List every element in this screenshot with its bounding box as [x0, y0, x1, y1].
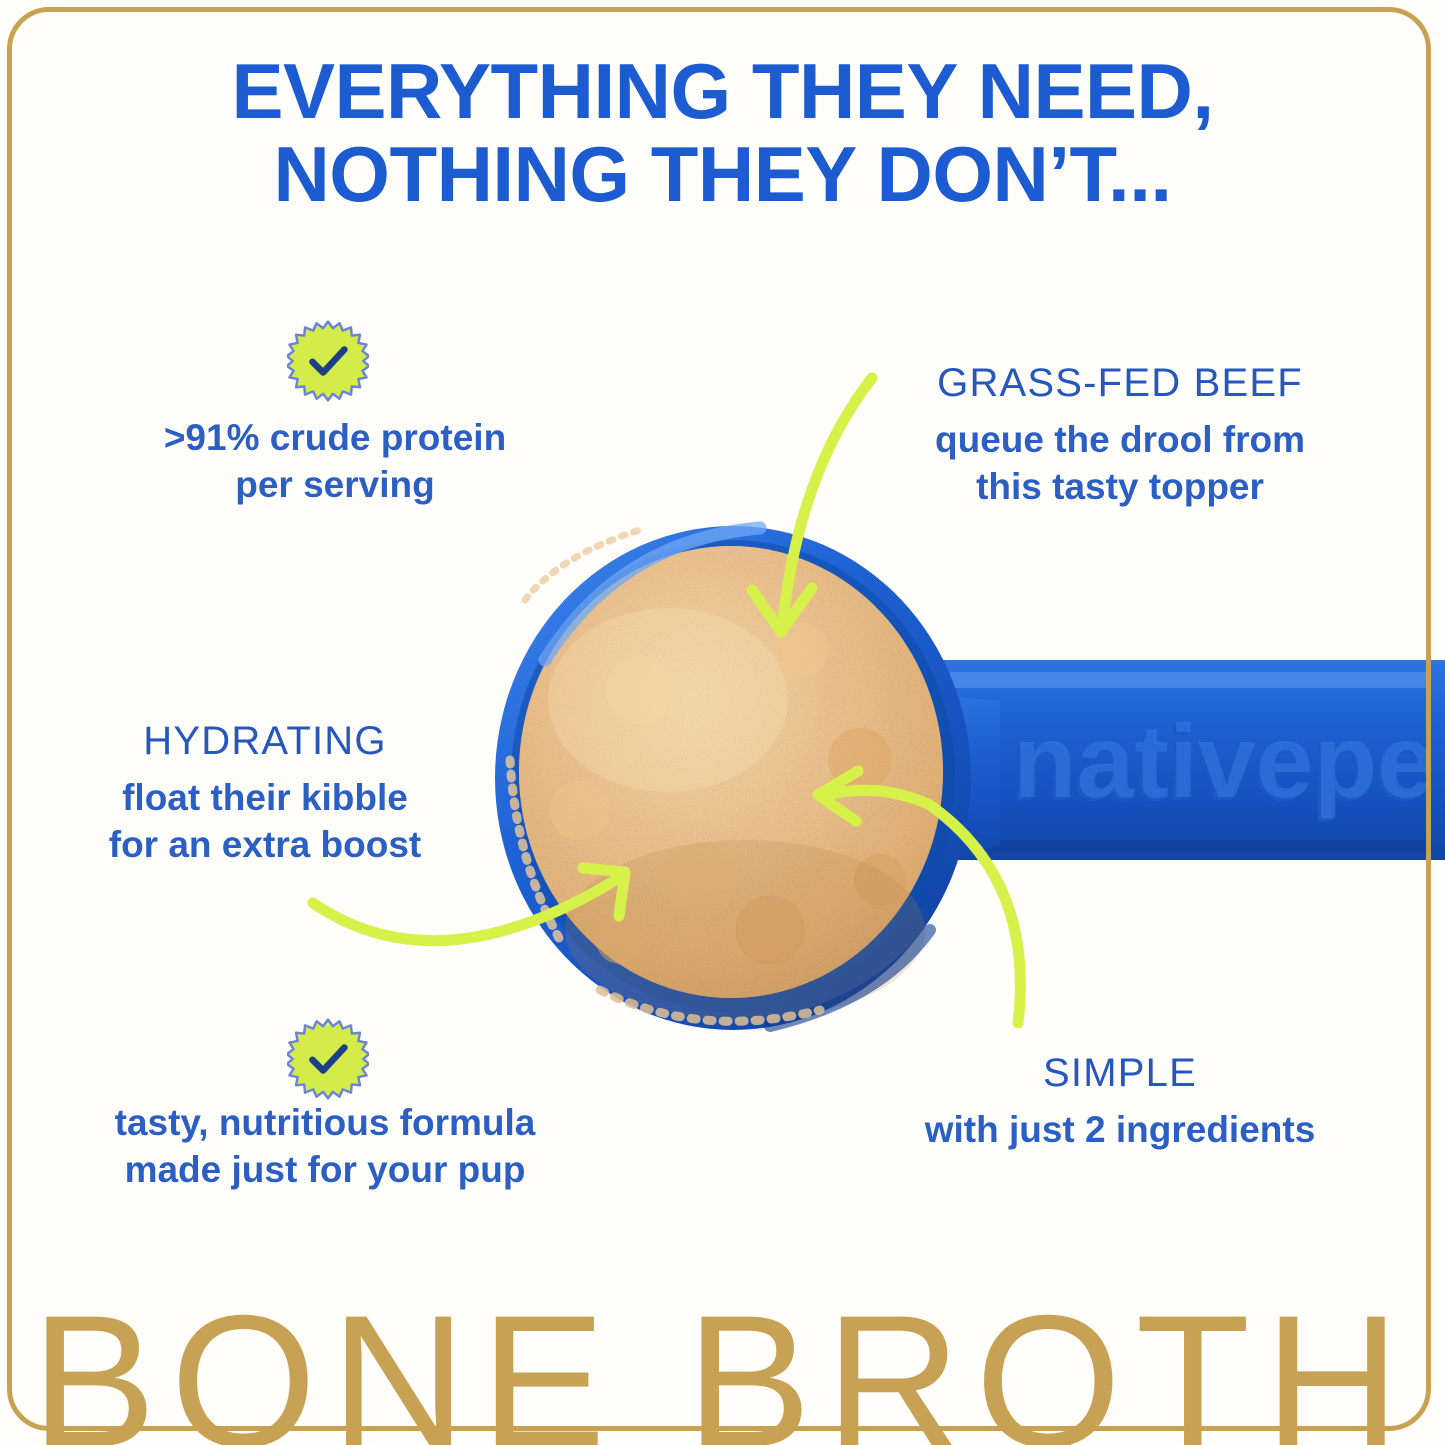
headline-line-2: NOTHING THEY DON’T... [0, 137, 1445, 212]
callout-simple-title: SIMPLE [910, 1050, 1330, 1097]
callout-grass-fed-beef-title: GRASS-FED BEEF [905, 360, 1335, 407]
callout-hydrating: HYDRATING float their kibble for an extr… [50, 718, 480, 868]
page-headline: EVERYTHING THEY NEED, NOTHING THEY DON’T… [0, 54, 1445, 212]
bottom-banner-word: BONE BROTH [0, 1287, 1445, 1445]
callout-tasty-body: tasty, nutritious formula made just for … [60, 1100, 590, 1193]
callout-grass-fed-beef-body: queue the drool from this tasty topper [905, 417, 1335, 510]
product-infographic: nativepe nativepe [0, 0, 1445, 1445]
callout-simple: SIMPLE with just 2 ingredients [910, 1050, 1330, 1154]
callout-simple-body: with just 2 ingredients [910, 1107, 1330, 1154]
scoop-handle: nativepe nativepe [930, 660, 1445, 860]
callout-tasty: tasty, nutritious formula made just for … [60, 1100, 590, 1193]
callout-hydrating-title: HYDRATING [50, 718, 480, 765]
svg-text:nativepe: nativepe [1013, 704, 1435, 820]
callout-protein: >91% crude protein per serving [60, 415, 610, 508]
headline-line-1: EVERYTHING THEY NEED, [0, 54, 1445, 129]
check-badge-icon [287, 1018, 369, 1100]
callout-grass-fed-beef: GRASS-FED BEEF queue the drool from this… [905, 360, 1335, 510]
check-badge-icon-tasty [287, 1018, 369, 1105]
callout-protein-body: >91% crude protein per serving [60, 415, 610, 508]
check-badge-icon-protein [287, 320, 369, 407]
check-badge-icon [287, 320, 369, 402]
callout-hydrating-body: float their kibble for an extra boost [50, 775, 480, 868]
